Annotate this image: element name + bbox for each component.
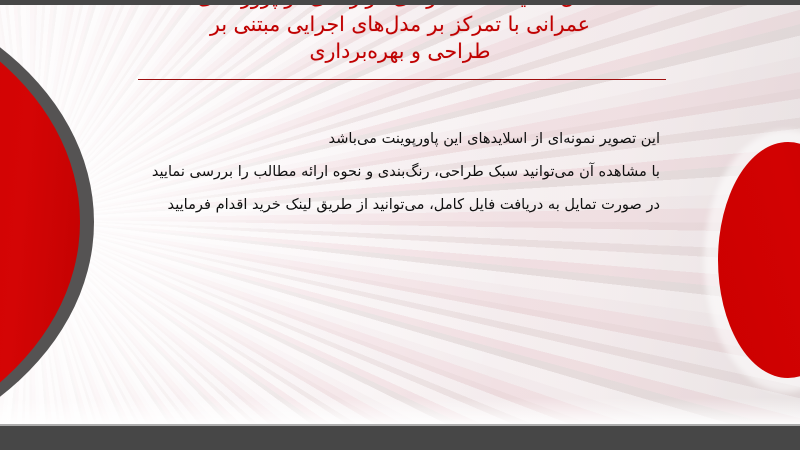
slide-body-line-2: با مشاهده آن می‌توانید سبک طراحی، رنگ‌بن… — [140, 155, 660, 188]
slide-title-line-2: عمرانی با تمرکز بر مدل‌های اجرایی مبتنی … — [110, 11, 690, 38]
slide-title: کامل مقایسه ساختارهای قراردادی در پروژه‌… — [110, 0, 690, 65]
slide-body-line-3: در صورت تمایل به دریافت فایل کامل، می‌تو… — [140, 188, 660, 221]
title-divider-rule — [138, 79, 666, 80]
slide-body-line-1: این تصویر نمونه‌ای از اسلایدهای این پاور… — [140, 122, 660, 155]
slide-title-line-3: طراحی و بهره‌برداری — [110, 38, 690, 65]
presentation-slide: کامل مقایسه ساختارهای قراردادی در پروژه‌… — [0, 0, 800, 450]
slide-frame-top-band — [0, 0, 800, 5]
slide-frame-bottom-band — [0, 424, 800, 450]
background-bottom-highlight — [0, 398, 800, 424]
slide-body-text: این تصویر نمونه‌ای از اسلایدهای این پاور… — [140, 122, 660, 221]
